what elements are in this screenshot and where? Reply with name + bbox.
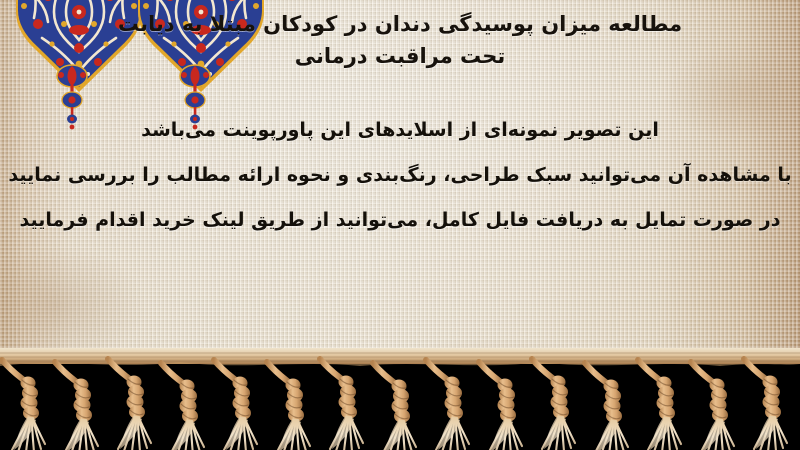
body-line-1: این تصویر نمونه‌ای از اسلایدهای این پاور… (0, 108, 800, 153)
slide-canvas: مطالعه میزان پوسیدگی دندان در کودکان مبت… (0, 0, 800, 450)
carpet-knotted-fringe (0, 348, 800, 450)
body-line-2: با مشاهده آن می‌توانید سبک طراحی، رنگ‌بن… (0, 153, 800, 198)
body-line-3: در صورت تمایل به دریافت فایل کامل، می‌تو… (0, 198, 800, 243)
title-line-2: تحت مراقبت درمانی (0, 40, 800, 72)
title-line-1: مطالعه میزان پوسیدگی دندان در کودکان مبت… (0, 8, 800, 40)
slide-title: مطالعه میزان پوسیدگی دندان در کودکان مبت… (0, 8, 800, 72)
slide-body: این تصویر نمونه‌ای از اسلایدهای این پاور… (0, 108, 800, 243)
